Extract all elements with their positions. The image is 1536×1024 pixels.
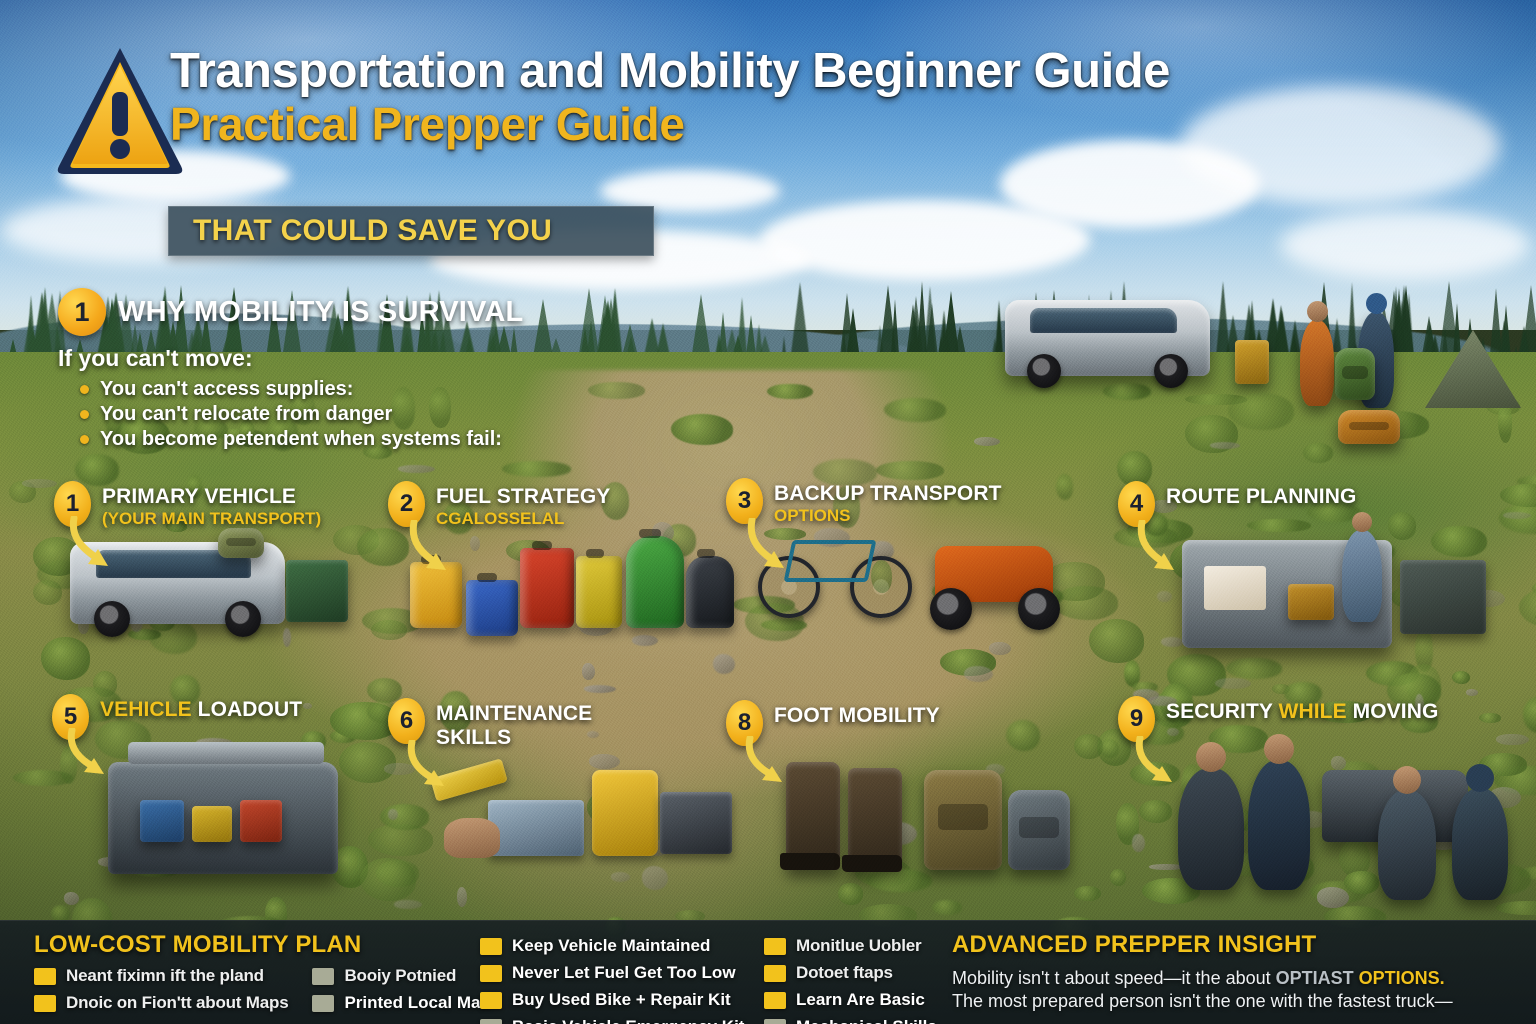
item-subtitle: SKILLS	[436, 726, 592, 750]
shrub	[1139, 800, 1172, 823]
checkbox-icon[interactable]	[312, 995, 334, 1012]
illustration-supply-box	[240, 800, 282, 842]
rock	[642, 866, 668, 890]
rock	[1503, 512, 1530, 519]
item-number-badge: 1	[54, 481, 91, 527]
rock	[1331, 756, 1346, 770]
item-number-badge: 4	[1118, 481, 1155, 527]
shrub	[767, 384, 813, 400]
title-block: Transportation and Mobility Beginner Gui…	[170, 46, 1430, 150]
rock	[283, 628, 291, 647]
checklist-label: Keep Vehicle Maintained	[512, 936, 710, 956]
intro-bullet-list: You can't access supplies: You can't rel…	[58, 378, 698, 451]
shrub	[866, 869, 932, 892]
checkbox-icon[interactable]	[34, 995, 56, 1012]
item-title-part-b: WHILE	[1279, 700, 1353, 723]
illustration-fuel-can	[410, 562, 462, 628]
item-8-foot-mobility: 8 FOOT MOBILITY	[726, 700, 940, 746]
illustration-gear-bag	[1235, 340, 1269, 384]
item-number-badge: 9	[1118, 696, 1155, 742]
shrub	[1089, 619, 1145, 663]
intro-subtitle: If you can't move:	[58, 345, 698, 372]
illustration-bicycle-frame	[784, 540, 877, 582]
insight-text-grey: OPTIAST	[1276, 968, 1354, 988]
shrub	[932, 900, 962, 915]
insight-text-a: Mobility isn't t about speed—it the abou…	[952, 968, 1276, 988]
item-9-security-while-moving: 9 SECURITY WHILE MOVING	[1118, 696, 1438, 742]
item-title-part-white: LOADOUT	[192, 698, 302, 721]
checklist-item[interactable]: Learn Are Basic	[764, 990, 930, 1010]
page-title: Transportation and Mobility Beginner Gui…	[170, 46, 1430, 98]
shrub	[1100, 739, 1119, 758]
item-title: FUEL STRATEGY	[436, 485, 610, 509]
intro-bullet-label: You can't access supplies:	[100, 378, 353, 401]
shrub	[764, 528, 806, 540]
intro-bullet-label: You can't relocate from danger	[100, 403, 392, 426]
illustration-roof-rack	[128, 742, 324, 764]
advanced-insight-title: ADVANCED PREPPER INSIGHT	[952, 931, 1536, 959]
shrub	[357, 528, 409, 565]
intro-bullet: You become petendent when systems fail:	[80, 428, 698, 451]
checklist-item[interactable]: Neant fiximn ift the pland	[34, 966, 288, 986]
checkbox-icon[interactable]	[764, 1019, 786, 1024]
rock	[394, 900, 422, 909]
intro-title: WHY MOBILITY IS SURVIVAL	[118, 296, 523, 329]
plan-checklist-col-1: Neant fiximn ift the pland Dnoic on Fion…	[34, 959, 288, 1013]
rock	[64, 892, 79, 905]
item-5-vehicle-loadout: 5 VEHICLE LOADOUT	[52, 694, 302, 740]
checklist-item[interactable]: Never Let Fuel Get Too Low	[480, 963, 750, 983]
checklist-item[interactable]: Printed Local Mak	[312, 993, 489, 1013]
item-title-part-a: SECURITY	[1166, 700, 1279, 723]
bottom-panel: LOW-COST MOBILITY PLAN Neant fiximn ift …	[0, 920, 1536, 1024]
item-number-badge: 3	[726, 478, 763, 524]
shrub	[60, 746, 78, 784]
item-3-backup-transport: 3 BACKUP TRANSPORT OPTIONS	[726, 478, 1002, 527]
illustration-supply-box	[140, 800, 184, 842]
shrub	[1228, 393, 1293, 430]
item-title: SECURITY WHILE MOVING	[1166, 700, 1438, 724]
checkbox-icon[interactable]	[34, 968, 56, 985]
insight-text-line2: The most prepared person isn't the one w…	[952, 991, 1453, 1011]
illustration-duffel	[1338, 410, 1400, 444]
illustration-atv-wheel	[1018, 588, 1060, 630]
shrub	[1303, 443, 1334, 463]
illustration-supply-box	[192, 806, 232, 842]
checkbox-icon[interactable]	[764, 938, 786, 955]
plan-checklist-col-2: Booiy Potnied Printed Local Mak	[312, 959, 489, 1013]
rock	[1161, 637, 1184, 647]
illustration-backpack	[1008, 790, 1070, 870]
illustration-person	[1378, 790, 1436, 900]
item-number-badge: 2	[388, 481, 425, 527]
intro-bullet-label: You become petendent when systems fail:	[100, 428, 502, 451]
illustration-person	[1300, 320, 1334, 406]
shrub	[1103, 383, 1151, 400]
illustration-boot	[786, 762, 840, 870]
rock	[1157, 591, 1172, 602]
illustration-toolbox	[488, 800, 584, 856]
checkbox-icon[interactable]	[480, 1019, 502, 1024]
shrub	[1452, 671, 1470, 684]
item-4-route-planning: 4 ROUTE PLANNING	[1118, 481, 1356, 527]
shrub	[838, 883, 862, 905]
plan-checklist-col-4: Monitlue Uobler Dotoet ftaps Learn Are B…	[750, 921, 930, 1024]
checklist-item[interactable]: Booiy Potnied	[312, 966, 489, 986]
illustration-suv-top	[1005, 300, 1210, 376]
item-6-maintenance-skills: 6 MAINTENANCE SKILLS	[388, 698, 592, 750]
illustration-propane-tank	[626, 536, 684, 628]
plan-checklist-col-3: Keep Vehicle Maintained Never Let Fuel G…	[470, 921, 750, 1024]
illustration-fuel-can	[520, 548, 574, 628]
item-title: VEHICLE LOADOUT	[100, 698, 302, 722]
item-title: BACKUP TRANSPORT	[774, 482, 1002, 506]
illustration-atv-wheel	[930, 588, 972, 630]
shrub	[884, 398, 946, 422]
rock	[1132, 834, 1145, 853]
rock	[1215, 678, 1250, 689]
illustration-backpack	[924, 770, 1002, 870]
shrub	[1226, 658, 1282, 679]
illustration-map	[1204, 566, 1266, 610]
kicker-text: THAT COULD SAVE YOU	[193, 214, 552, 248]
checklist-label: Neant fiximn ift the pland	[66, 966, 264, 986]
item-title: FOOT MOBILITY	[774, 704, 940, 728]
illustration-roof-gear	[218, 528, 264, 558]
illustration-duffel	[1335, 348, 1375, 400]
checklist-label: Buy Used Bike + Repair Kit	[512, 990, 731, 1010]
illustration-supply-box	[1288, 584, 1334, 620]
item-title-part-c: MOVING	[1353, 700, 1439, 723]
item-title: ROUTE PLANNING	[1166, 485, 1356, 509]
checkbox-icon[interactable]	[312, 968, 334, 985]
checklist-label: Booiy Potnied	[344, 966, 456, 986]
item-number-badge: 8	[726, 700, 763, 746]
shrub	[1074, 734, 1103, 760]
low-cost-plan-section: LOW-COST MOBILITY PLAN Neant fiximn ift …	[0, 921, 470, 1024]
shrub	[1431, 526, 1487, 558]
intro-bullet: You can't relocate from danger	[80, 403, 698, 426]
checklist-item[interactable]: Mechanical Skills	[764, 1017, 930, 1024]
intro-section: 1 WHY MOBILITY IS SURVIVAL If you can't …	[58, 288, 698, 453]
rock	[989, 642, 1010, 655]
item-subtitle: OPTIONS	[774, 506, 1002, 526]
illustration-propane-tank	[686, 556, 734, 628]
rock	[470, 536, 480, 552]
checklist-label: Learn Are Basic	[796, 990, 925, 1010]
advanced-insight-body: Mobility isn't t about speed—it the abou…	[952, 967, 1536, 1013]
shrub	[41, 637, 89, 680]
shrub	[1130, 762, 1180, 786]
illustration-fuel-can	[466, 580, 518, 636]
checklist-label: Dotoet ftaps	[796, 963, 893, 983]
intro-number-badge: 1	[58, 288, 106, 336]
illustration-person	[1178, 768, 1244, 890]
shrub	[33, 580, 63, 605]
checklist-label: Monitlue Uobler	[796, 936, 921, 956]
item-title: MAINTENANCE	[436, 702, 592, 726]
item-subtitle: (YOUR MAIN TRANSPORT)	[102, 509, 321, 529]
insight-text-yellow: OPTIONS.	[1354, 968, 1445, 988]
item-number-badge: 5	[52, 694, 89, 740]
item-1-primary-vehicle: 1 PRIMARY VEHICLE (YOUR MAIN TRANSPORT)	[54, 481, 321, 530]
rock	[589, 754, 620, 769]
checkbox-icon[interactable]	[480, 938, 502, 955]
illustration-person	[1452, 788, 1508, 900]
item-title-part-yellow: VEHICLE	[100, 698, 192, 721]
shrub	[380, 804, 429, 830]
checklist-label: Printed Local Mak	[344, 993, 489, 1013]
checklist-item[interactable]: Buy Used Bike + Repair Kit	[480, 990, 750, 1010]
rock	[1210, 442, 1240, 449]
checklist-item[interactable]: Dnoic on Fion'tt about Maps	[34, 993, 288, 1013]
kicker-banner: THAT COULD SAVE YOU	[168, 206, 654, 256]
illustration-mechanic-hand	[444, 818, 500, 858]
bullet-dot-icon	[80, 410, 89, 419]
shrub	[1110, 869, 1126, 885]
illustration-storage-crate	[286, 560, 348, 622]
checkbox-icon[interactable]	[480, 965, 502, 982]
checklist-item[interactable]: Dotoet ftaps	[764, 963, 930, 983]
checkbox-icon[interactable]	[764, 992, 786, 1009]
checklist-label: Never Let Fuel Get Too Low	[512, 963, 736, 983]
item-number-badge: 6	[388, 698, 425, 744]
intro-bullet: You can't access supplies:	[80, 378, 698, 401]
rock	[611, 872, 630, 881]
rock	[974, 437, 1000, 446]
warning-triangle-icon	[55, 42, 185, 178]
illustration-person	[1248, 760, 1310, 890]
illustration-jack	[592, 770, 658, 856]
bullet-dot-icon	[80, 435, 89, 444]
rock	[964, 666, 993, 682]
page-subtitle: Practical Prepper Guide	[170, 100, 1430, 150]
illustration-person	[1342, 530, 1382, 622]
bullet-dot-icon	[80, 385, 89, 394]
shrub	[1344, 871, 1379, 895]
checklist-item[interactable]: Keep Vehicle Maintained	[480, 936, 750, 956]
checklist-label: Dnoic on Fion'tt about Maps	[66, 993, 288, 1013]
illustration-boot	[848, 768, 902, 872]
checkbox-icon[interactable]	[764, 965, 786, 982]
checklist-item[interactable]: Monitlue Uobler	[764, 936, 930, 956]
item-2-fuel-strategy: 2 FUEL STRATEGY CGALOSSELAL	[388, 481, 610, 530]
rock	[388, 809, 398, 820]
checklist-label: Mechanical Skills	[796, 1017, 937, 1024]
intro-heading-row: 1 WHY MOBILITY IS SURVIVAL	[58, 288, 698, 336]
shrub	[1006, 720, 1040, 751]
rock	[1317, 887, 1349, 908]
shrub	[1388, 512, 1416, 540]
item-title: PRIMARY VEHICLE	[102, 485, 321, 509]
checkbox-icon[interactable]	[480, 992, 502, 1009]
illustration-fuel-can	[576, 556, 622, 628]
low-cost-plan-title: LOW-COST MOBILITY PLAN	[34, 931, 470, 959]
checklist-label: Basic Vehicle Emergency Kit	[512, 1017, 744, 1024]
rock	[582, 663, 595, 680]
shrub	[1056, 474, 1073, 500]
shrub	[360, 858, 416, 901]
advanced-insight-section: ADVANCED PREPPER INSIGHT Mobility isn't …	[930, 921, 1536, 1024]
shrub	[1074, 886, 1101, 901]
illustration-storage-case	[1400, 560, 1486, 634]
checklist-item[interactable]: Basic Vehicle Emergency Kit	[480, 1017, 750, 1024]
item-subtitle: CGALOSSELAL	[436, 509, 610, 529]
illustration-tool-case	[660, 792, 732, 854]
